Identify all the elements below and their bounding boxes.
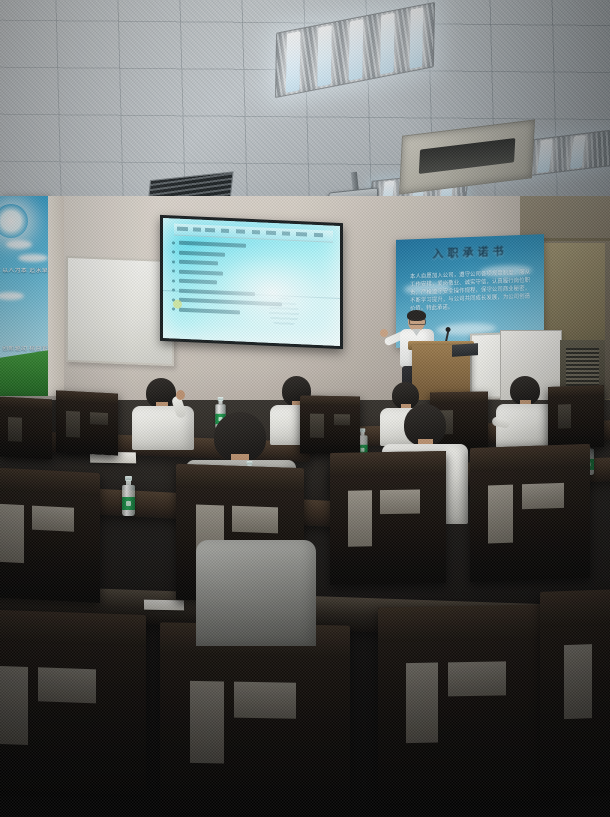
chair[interactable] xyxy=(160,622,350,815)
chair[interactable] xyxy=(0,397,52,460)
sky-banner-left: 以人为本 追求卓越 创新驱动 精益管理 xyxy=(0,196,48,396)
sun-icon xyxy=(0,204,28,238)
handout-paper[interactable] xyxy=(144,600,184,611)
projection-screen-frame xyxy=(160,215,343,349)
chair[interactable] xyxy=(540,588,610,792)
chair[interactable] xyxy=(56,390,118,455)
chair[interactable] xyxy=(470,444,590,582)
chair[interactable] xyxy=(378,604,558,803)
pledge-board-body: 本人自愿加入公司，遵守公司各项规章制度，服从工作安排，爱岗敬业、诚实守信，认真履… xyxy=(410,269,530,314)
green-field-graphic xyxy=(0,350,48,396)
cloud-icon xyxy=(18,254,48,262)
attendee-back-left xyxy=(132,378,194,448)
sky-banner-line-1: 以人为本 追求卓越 xyxy=(2,268,48,275)
chair[interactable] xyxy=(330,451,446,585)
chair[interactable] xyxy=(548,385,604,449)
cloud-icon xyxy=(0,292,24,300)
poster-left-wall-edge xyxy=(48,196,64,396)
whiteboard[interactable] xyxy=(66,256,174,367)
glasses-icon xyxy=(409,319,426,325)
presenter-hand xyxy=(380,329,388,337)
projector-glow xyxy=(163,218,340,346)
attendee-hand xyxy=(176,390,185,400)
water-bottle[interactable] xyxy=(122,476,135,516)
laptop-icon xyxy=(452,343,478,357)
chair[interactable] xyxy=(0,467,100,603)
meeting-room-photo: 以人为本 追求卓越 创新驱动 精益管理 xyxy=(0,0,610,817)
attendee-front-silhouette xyxy=(196,540,316,650)
chair[interactable] xyxy=(300,395,360,454)
projection-screen[interactable] xyxy=(163,218,340,346)
pledge-board-title: 入职承诺书 xyxy=(396,241,544,263)
cloud-icon xyxy=(6,240,32,249)
attendee-shirt xyxy=(196,540,316,646)
chair[interactable] xyxy=(0,609,146,795)
